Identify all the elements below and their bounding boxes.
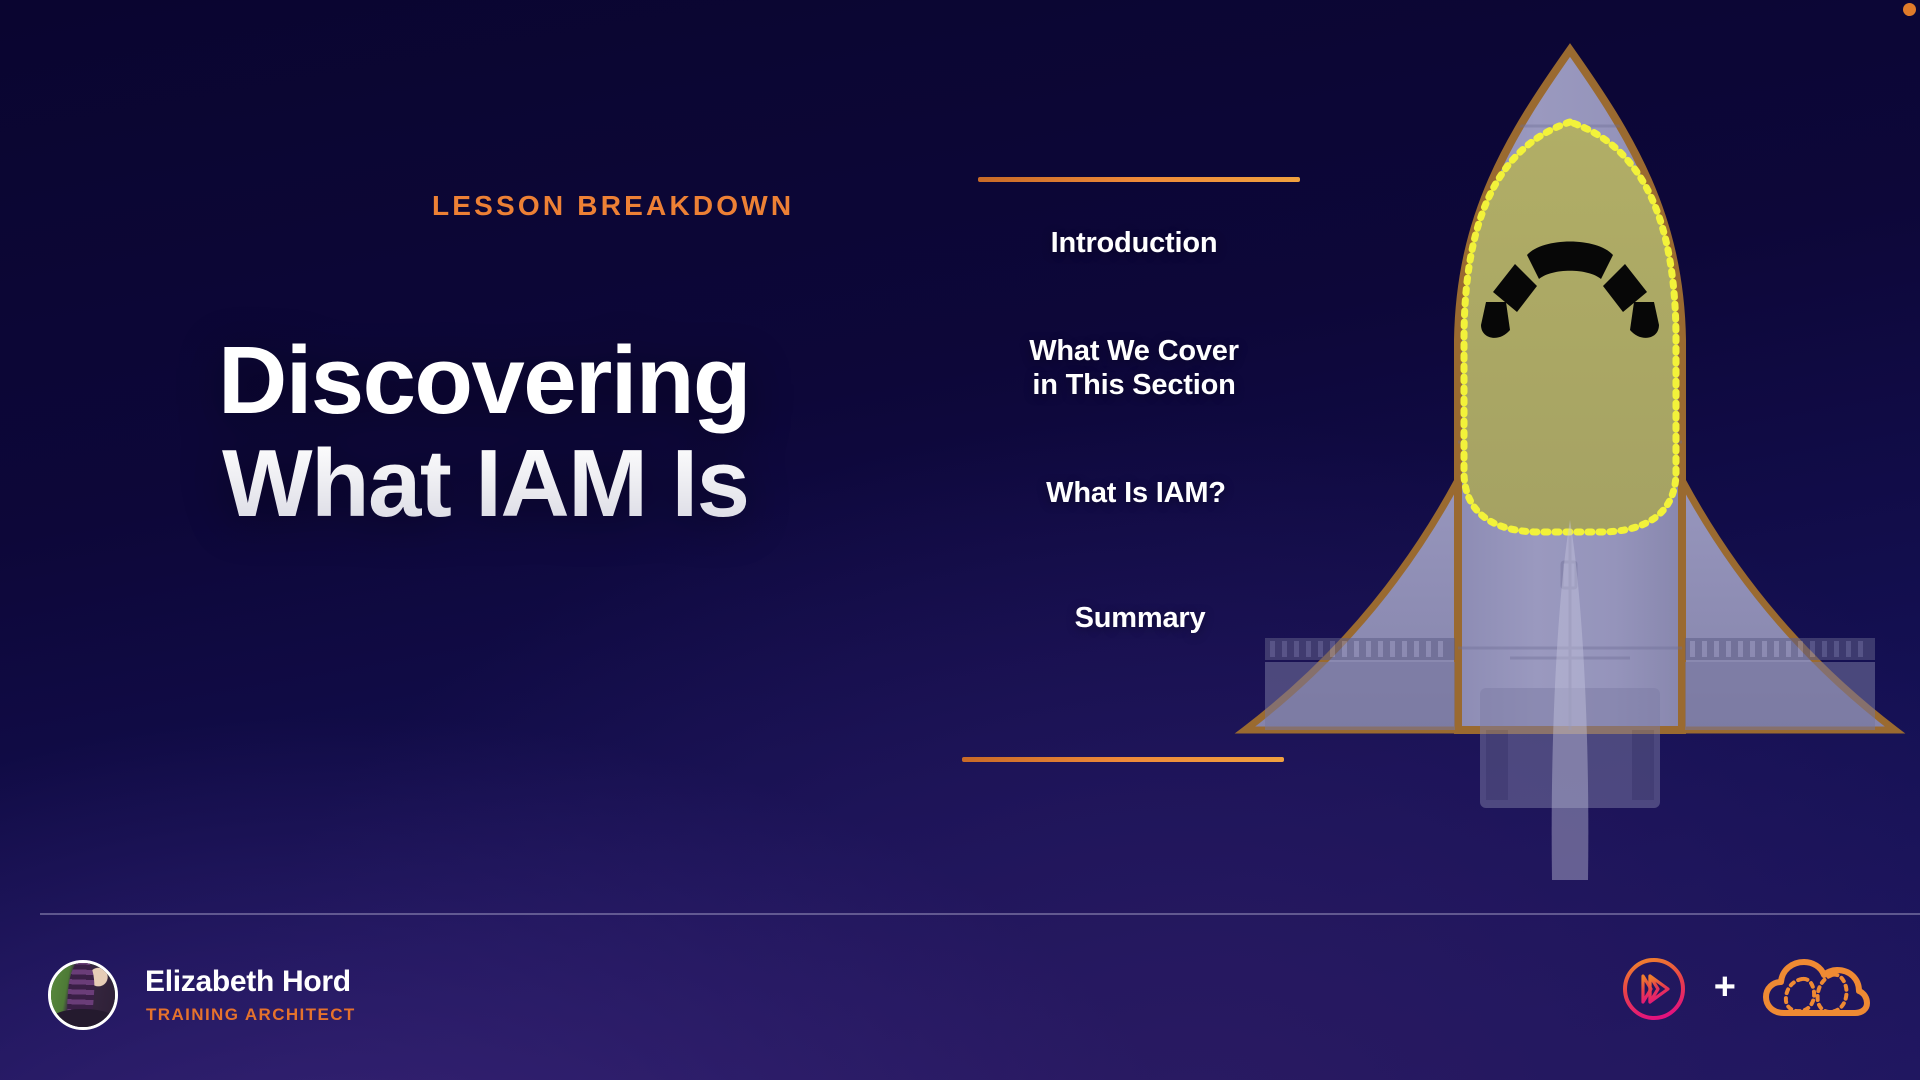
footer-bar: Elizabeth Hord TRAINING ARCHITECT +: [0, 945, 1920, 1080]
agenda-list: Introduction What We Cover in This Secti…: [960, 165, 1320, 775]
corner-accent-dot: [1903, 3, 1916, 16]
footer-divider: [40, 913, 1920, 915]
page-title-line-1: Discovering: [218, 330, 878, 433]
presenter-role: TRAINING ARCHITECT: [146, 1005, 356, 1025]
presenter-name: Elizabeth Hord: [145, 965, 351, 999]
agenda-item-what-we-cover[interactable]: What We Cover in This Section: [954, 335, 1314, 402]
avatar: [48, 960, 118, 1030]
agenda-item-summary[interactable]: Summary: [960, 602, 1320, 636]
agenda-item-label: Summary: [1075, 602, 1206, 634]
avatar-shoulder: [48, 1009, 118, 1030]
agenda-top-rule: [978, 177, 1300, 182]
agenda-item-label-line-2: in This Section: [1032, 369, 1235, 401]
lesson-breakdown-eyebrow: LESSON BREAKDOWN: [432, 190, 794, 222]
brand-lockup: +: [1620, 953, 1872, 1025]
page-title-line-2: What IAM Is: [222, 433, 878, 536]
agenda-item-label: Introduction: [1051, 227, 1218, 259]
pluralsight-play-logo: [1620, 955, 1688, 1023]
agenda-item-introduction[interactable]: Introduction: [954, 227, 1314, 261]
agenda-item-label-line-1: What We Cover: [1029, 335, 1239, 367]
a-cloud-guru-cloud-logo: [1762, 953, 1872, 1025]
plus-separator: +: [1714, 968, 1736, 1006]
agenda-bottom-rule: [962, 757, 1284, 762]
agenda-item-label: What Is IAM?: [1046, 477, 1226, 509]
page-title: Discovering What IAM Is: [218, 330, 878, 535]
slide-canvas: LESSON BREAKDOWN Discovering What IAM Is…: [0, 0, 1920, 1080]
agenda-item-what-is-iam[interactable]: What Is IAM?: [956, 477, 1316, 511]
